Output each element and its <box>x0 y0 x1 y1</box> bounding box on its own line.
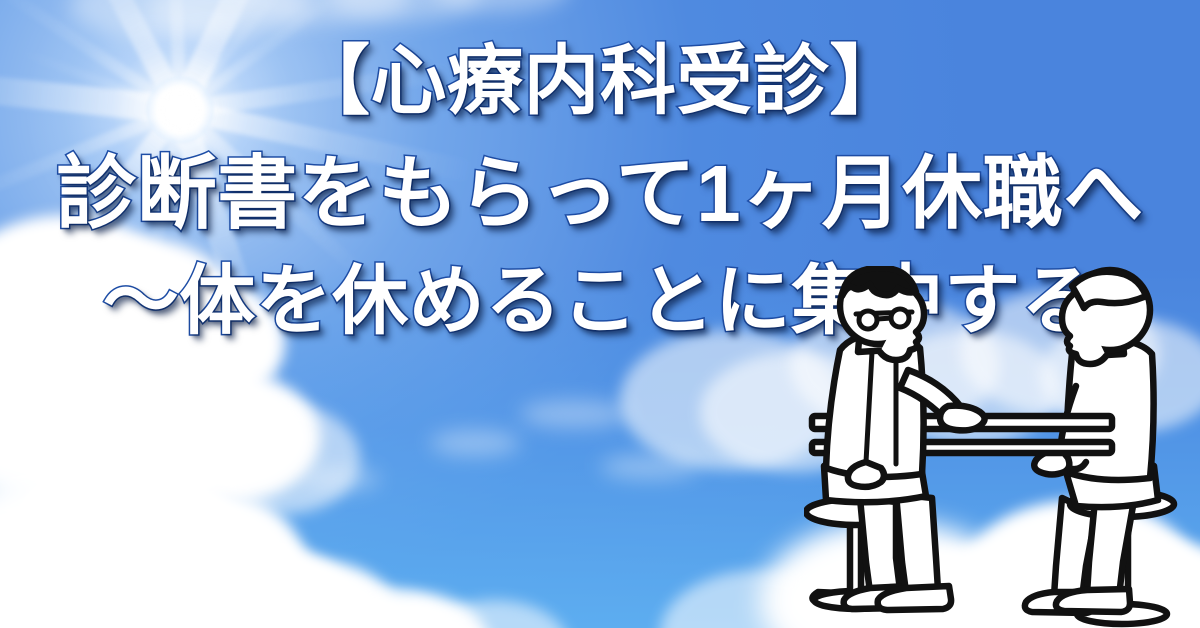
cloud-puff <box>430 430 520 456</box>
cloud-puff <box>300 468 380 490</box>
cloud-puff <box>520 400 630 428</box>
thumbnail-canvas: 【心療内科受診】 診断書をもらって1ヶ月休職へ ～体を休めることに集中する <box>0 0 1200 628</box>
cloud-puff <box>600 455 700 479</box>
consultation-illustration <box>804 266 1200 628</box>
sun-core <box>146 76 214 144</box>
